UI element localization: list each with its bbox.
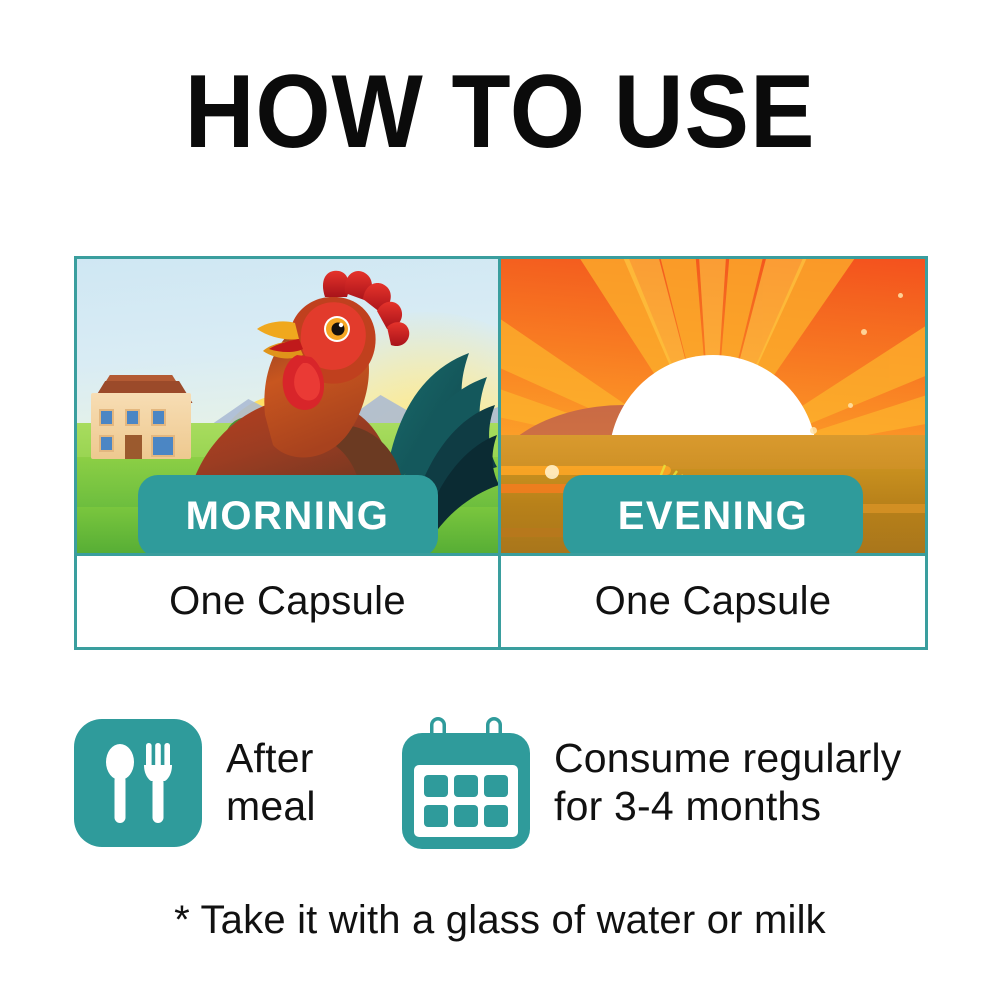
feature-after-meal-label: After meal [226,735,376,830]
feature-row: After meal [74,706,934,860]
calendar-icon [400,715,532,851]
feature-after-meal-line2: meal [226,783,376,831]
feature-consume-line1: Consume regularly [554,735,902,783]
evening-light-streak [501,466,671,475]
feature-after-meal-line1: After [226,735,376,783]
how-to-use-infographic: HOW TO USE [0,0,1000,1000]
badge-morning-label: MORNING [186,494,390,539]
dose-evening: One Capsule [501,556,925,647]
schedule-cell-evening-image: EVENING [501,259,925,553]
feature-consume-line2: for 3-4 months [554,783,902,831]
badge-evening-label: EVENING [618,494,809,539]
schedule-image-row: MORNING [77,259,925,553]
badge-morning: MORNING [138,475,438,553]
schedule-table: MORNING [74,256,928,650]
badge-evening: EVENING [563,475,863,553]
evening-sparkle [848,403,853,408]
dose-morning: One Capsule [77,556,501,647]
spoon-fork-icon [74,719,202,847]
schedule-dose-row: One Capsule One Capsule [77,553,925,647]
evening-sparkle [898,293,903,298]
footnote: * Take it with a glass of water or milk [0,898,1000,943]
feature-after-meal: After meal [74,719,376,847]
page-title: HOW TO USE [35,58,965,167]
evening-sparkle [810,427,817,434]
schedule-cell-morning-image: MORNING [77,259,501,553]
feature-consume-regularly-label: Consume regularly for 3-4 months [554,735,902,830]
feature-consume-regularly: Consume regularly for 3-4 months [400,715,902,851]
evening-sparkle [861,329,867,335]
evening-sparkle [545,465,559,479]
